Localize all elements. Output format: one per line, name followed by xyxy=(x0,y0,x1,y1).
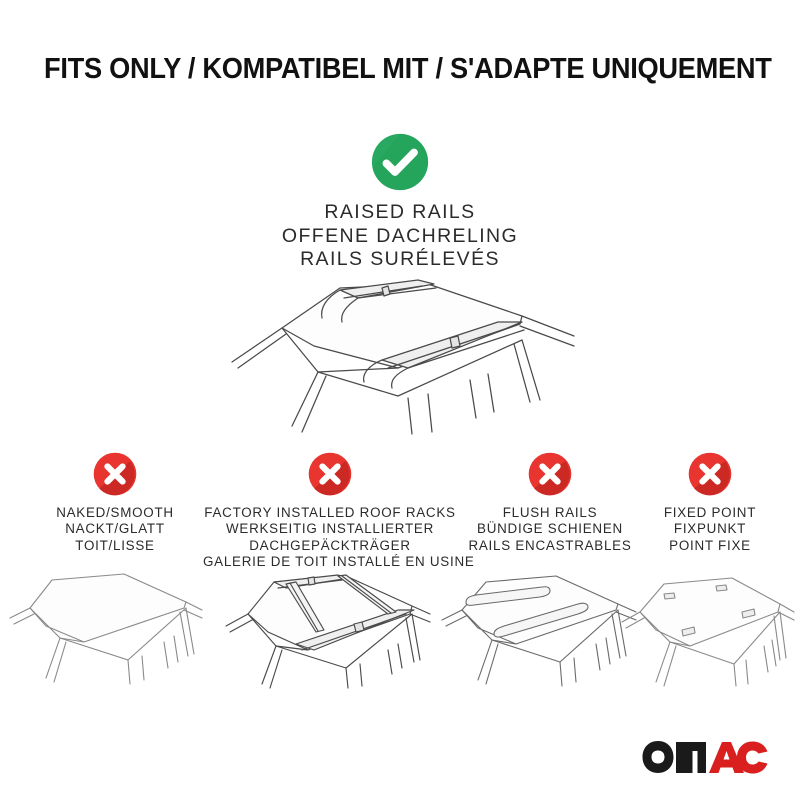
compatible-label-fr: RAILS SURÉLEVÉS xyxy=(0,248,800,272)
incompatible-label-de: FIXPUNKT xyxy=(630,521,790,537)
omac-logo xyxy=(642,740,768,774)
incompatible-label-fr: RAILS ENCASTRABLES xyxy=(452,538,648,554)
incompatible-labels: FLUSH RAILS BÜNDIGE SCHIENEN RAILS ENCAS… xyxy=(452,505,648,554)
incompatible-label-en: FIXED POINT xyxy=(630,505,790,521)
incompatible-item-naked: NAKED/SMOOTH NACKT/GLATT TOIT/LISSE xyxy=(15,452,215,554)
car-roof-fixed-point-illustration xyxy=(620,556,796,688)
logo-letter-m-fill xyxy=(676,742,706,773)
incompatible-labels: FIXED POINT FIXPUNKT POINT FIXE xyxy=(630,505,790,554)
car-roof-factory-rack-illustration xyxy=(212,552,444,690)
car-roof-naked-illustration xyxy=(8,556,208,686)
incompatible-label-fr: TOIT/LISSE xyxy=(15,538,215,554)
x-circle-icon xyxy=(93,452,137,496)
incompatible-label-en: FLUSH RAILS xyxy=(452,505,648,521)
logo-letter-c xyxy=(737,742,768,774)
incompatible-label-de: BÜNDIGE SCHIENEN xyxy=(452,521,648,537)
incompatible-label-en: FACTORY INSTALLED ROOF RACKS xyxy=(203,505,457,521)
page-title: FITS ONLY / KOMPATIBEL MIT / S'ADAPTE UN… xyxy=(44,52,732,86)
compatible-label-en: RAISED RAILS xyxy=(0,201,800,225)
compatible-section: RAISED RAILS OFFENE DACHRELING RAILS SUR… xyxy=(0,133,800,272)
compatible-label-de: OFFENE DACHRELING xyxy=(0,225,800,249)
check-circle-icon xyxy=(371,133,429,191)
car-roof-flush-rails-illustration xyxy=(438,556,642,688)
logo-letter-o xyxy=(643,741,674,773)
incompatible-label-fr: POINT FIXE xyxy=(630,538,790,554)
incompatible-label-en: NAKED/SMOOTH xyxy=(15,505,215,521)
x-circle-icon xyxy=(688,452,732,496)
x-circle-icon xyxy=(528,452,572,496)
incompatible-labels: NAKED/SMOOTH NACKT/GLATT TOIT/LISSE xyxy=(15,505,215,554)
incompatible-item-fixed-point: FIXED POINT FIXPUNKT POINT FIXE xyxy=(630,452,790,554)
car-roof-raised-rails-illustration xyxy=(222,276,582,448)
incompatible-item-flush-rails: FLUSH RAILS BÜNDIGE SCHIENEN RAILS ENCAS… xyxy=(452,452,648,554)
x-circle-icon xyxy=(308,452,352,496)
compatible-labels: RAISED RAILS OFFENE DACHRELING RAILS SUR… xyxy=(0,201,800,272)
incompatible-label-de-1: WERKSEITIG INSTALLIERTER xyxy=(203,521,457,537)
incompatible-label-de: NACKT/GLATT xyxy=(15,521,215,537)
